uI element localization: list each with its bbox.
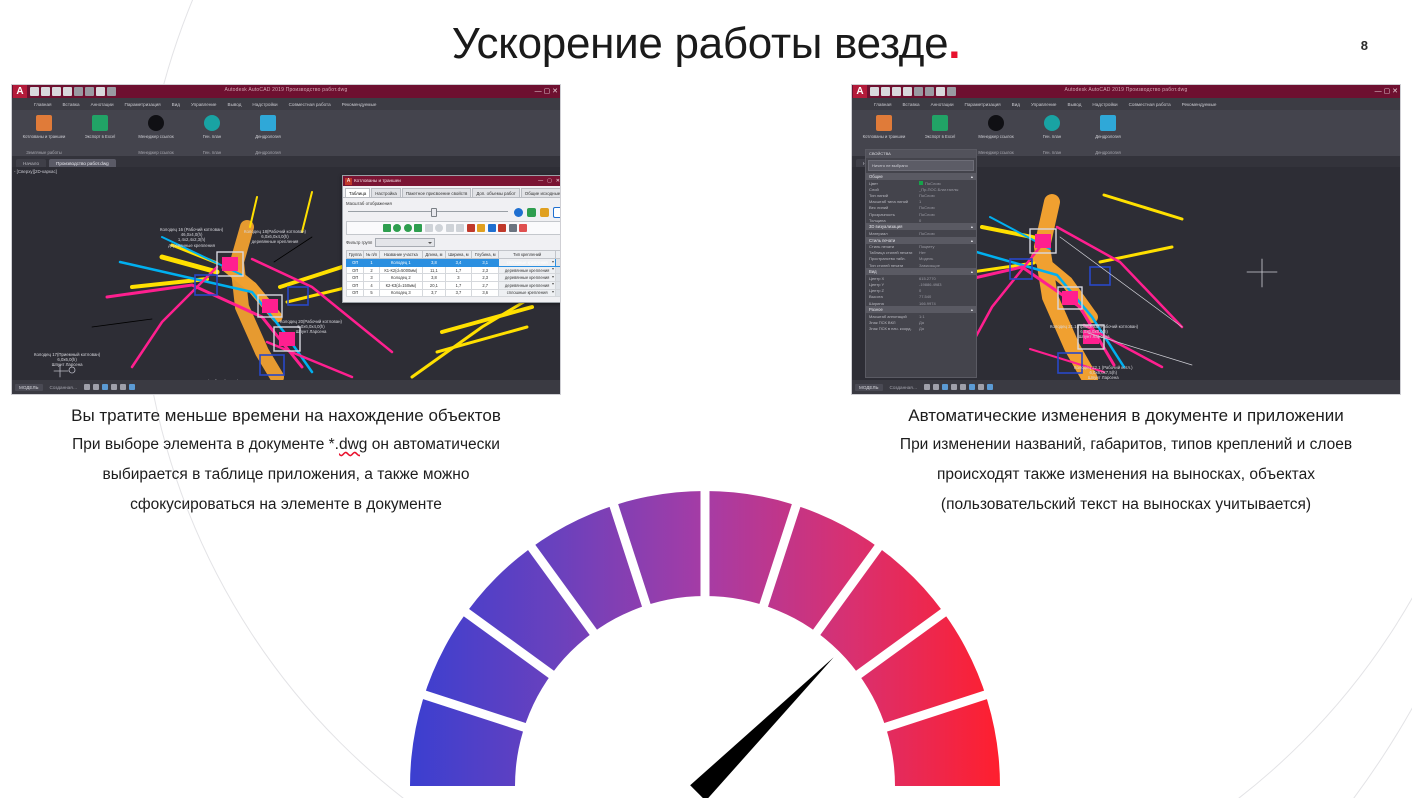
ribbon-panel-label: Земляные работы <box>18 150 70 155</box>
zoom-icon[interactable] <box>446 224 454 232</box>
status-toggle-icon[interactable] <box>93 384 99 390</box>
ribbon-tab[interactable]: Вставка <box>902 102 919 107</box>
prop-key: Толщина <box>869 218 919 223</box>
cell-dlina: 20,1 <box>423 281 446 289</box>
excel-export-icon <box>92 115 108 131</box>
cell-gruppa: ОП <box>347 266 364 274</box>
col-gruppa: Группа <box>347 251 364 259</box>
dialog-kotlovany-left[interactable]: A Котлованы и траншеи —▢✕ Таблица Настро… <box>342 175 560 303</box>
prop-value: 77.540 <box>919 294 931 299</box>
ribbon-button-label: Экспорт в Excel <box>85 134 116 139</box>
caption-right-line1: При изменении названий, габаритов, типов… <box>850 430 1402 460</box>
prop-key: Масштаб аннотаций <box>869 314 919 319</box>
genplan-icon <box>204 115 220 131</box>
cell-dlina: 3,7 <box>423 289 446 297</box>
prop-key: Материал <box>869 231 919 236</box>
ribbon-button-excel[interactable]: Экспорт в Excel <box>914 112 966 139</box>
status-toggle-icon[interactable] <box>111 384 117 390</box>
spellcheck-word: dwg <box>339 436 367 453</box>
prop-value: ПоСлою <box>919 181 941 186</box>
prop-key: Стиль печати <box>869 244 919 249</box>
dendrology-icon <box>1100 115 1116 131</box>
ribbon-tab[interactable]: Совместная работа <box>289 102 331 107</box>
prop-key: Центр X <box>869 276 919 281</box>
prop-value: ПоСлою <box>919 205 935 210</box>
cell-npp: 1 <box>364 259 379 267</box>
section-label: Разное <box>869 307 883 312</box>
cell-glubina: 3,1 <box>472 259 499 267</box>
caption-left-line1: При выборе элемента в документе *.dwg он… <box>10 430 562 460</box>
ribbon-button-label: Ген. план <box>203 134 221 139</box>
prop-key: Пространство табл. <box>869 256 919 261</box>
add-point-icon[interactable] <box>393 224 401 232</box>
drawing-annotation: Колодец 18(Рабочий котлован)6,0х6,0х4,0(… <box>244 229 306 245</box>
dialog-titlebar: A Котлованы и траншеи —▢✕ <box>343 176 560 186</box>
properties-palette[interactable]: СВОЙСТВА Ничего не выбрано Общие▴ ЦветПо… <box>865 149 977 378</box>
status-toggle-icon[interactable] <box>951 384 957 390</box>
prop-key: Прозрачность <box>869 212 919 217</box>
autocad-logo-icon: A <box>853 85 867 99</box>
collapse-icon[interactable]: ▴ <box>971 238 973 243</box>
ribbon-button-genplan[interactable]: Ген. план <box>186 112 238 139</box>
cell-nazvanie: Колодец 1 <box>379 259 423 267</box>
properties-section-raznoe[interactable]: Разное▴ <box>866 306 976 313</box>
ribbon-tab[interactable]: Рекомендуемые <box>1182 102 1217 107</box>
prop-key: Масштаб типа линий <box>869 199 919 204</box>
prop-key: Знак ПСК ВКЛ <box>869 320 919 325</box>
ribbon-tab[interactable]: Аннотации <box>931 102 954 107</box>
quick-access-toolbar-left[interactable] <box>30 86 116 97</box>
ribbon-tabs-right[interactable]: Главная Вставка Аннотации Параметризация… <box>852 98 1400 110</box>
link-manager-icon <box>148 115 164 131</box>
cell-glubina: 2,7 <box>472 281 499 289</box>
col-tip: Тип креплений <box>499 251 556 259</box>
properties-section-3d[interactable]: 3D визуализация▴ <box>866 223 976 230</box>
filter-label: Фильтр групп <box>346 240 372 245</box>
status-bar-left[interactable]: МОДЕЛЬ Созданная… <box>12 380 560 394</box>
status-toggle-icon[interactable] <box>84 384 90 390</box>
ribbon-button-kotlovany[interactable]: Котлованы и траншеи <box>18 112 70 139</box>
status-layout-tab[interactable]: Созданная… <box>886 384 922 391</box>
col-actions <box>556 251 561 259</box>
import-icon[interactable] <box>527 208 536 217</box>
prop-key: Центр Z <box>869 288 919 293</box>
cell-tip-dropdown[interactable]: деревянные крепления <box>499 281 556 289</box>
ribbon-button-label: Котлованы и траншеи <box>23 134 66 139</box>
window-buttons-right[interactable]: — ▢ ✕ <box>1375 87 1398 95</box>
section-label: Стиль печати <box>869 238 895 243</box>
ribbon-button-excel[interactable]: Экспорт в Excel <box>74 112 126 139</box>
document-tabs-left[interactable]: Начало Производство работ.dwg <box>12 156 560 167</box>
table-body-left: ОП 1 Колодец 1 3,8 3,4 3,1 сплошные креп… <box>347 259 561 297</box>
drawing-annotation: Колодец 17(Приемный котлован)6,0х6,0(h)Ш… <box>34 352 100 368</box>
dialog-tab-obshchie[interactable]: Общие исходные данные <box>521 188 560 197</box>
collapse-icon[interactable]: ▴ <box>971 224 973 229</box>
drawing-annotation-kolodec-211: Колодец 21.1(Приемный-Рабочий котлован)6… <box>1050 324 1138 340</box>
prop-key: Таблица стилей печати <box>869 250 919 255</box>
cell-npp: 4 <box>364 281 379 289</box>
title-accent-dot: . <box>948 19 960 68</box>
slide-title-wrap: Ускорение работы везде. <box>0 14 1412 74</box>
ribbon-tab[interactable]: Главная <box>874 102 891 107</box>
cell-tip-dropdown[interactable]: деревянные крепления <box>499 266 556 274</box>
cell-gruppa: ОП <box>347 289 364 297</box>
col-shirina: Ширина, м <box>445 251 471 259</box>
doc-tab-drawing[interactable]: Производство работ.dwg <box>49 159 116 167</box>
dendrology-icon <box>260 115 276 131</box>
collapse-icon[interactable]: ▴ <box>971 174 973 179</box>
prop-value: Модель <box>919 256 933 261</box>
cell-tip-dropdown[interactable]: сплошные крепления <box>499 289 556 297</box>
properties-title: СВОЙСТВА <box>866 150 976 158</box>
speed-gauge <box>405 476 1005 798</box>
page-title: Ускорение работы везде. <box>452 14 960 74</box>
prop-key: Знак ПСК в нач. коорд. <box>869 326 919 331</box>
table-blue-icon[interactable] <box>488 224 496 232</box>
cell-shirina: 1,7 <box>445 266 471 274</box>
dialog-toolbar-left[interactable] <box>346 221 560 235</box>
row-actions[interactable] <box>556 266 561 274</box>
prop-key: Ширина <box>869 301 919 306</box>
prop-key: Высота <box>869 294 919 299</box>
cell-nazvanie: Колодец 3 <box>379 289 423 297</box>
status-model-tab[interactable]: МОДЕЛЬ <box>15 384 43 391</box>
prop-value: ПоСлою <box>919 212 935 217</box>
genplan-icon <box>1044 115 1060 131</box>
row-actions[interactable] <box>556 274 561 282</box>
prop-key: Тип стилей печати <box>869 263 919 268</box>
slider-track <box>348 211 508 212</box>
cell-gruppa: ОП <box>347 259 364 267</box>
prop-value: Да <box>919 326 924 331</box>
ribbon-tab[interactable]: Вывод <box>1068 102 1082 107</box>
status-model-tab[interactable]: МОДЕЛЬ <box>855 384 883 391</box>
dialog-window-buttons[interactable]: —▢✕ <box>538 176 560 186</box>
cell-dlina: 3,8 <box>423 274 446 282</box>
color-swatch <box>919 181 923 185</box>
cell-dlina: 3,8 <box>423 259 446 267</box>
slide: Ускорение работы везде. 8 A Autodesk Aut… <box>0 0 1412 798</box>
cad-window-title-left: Autodesk AutoCAD 2019 Производство работ… <box>225 87 348 93</box>
prop-key: Слой <box>869 187 919 192</box>
cut-icon[interactable] <box>425 224 433 232</box>
ribbon-tab[interactable]: Вид <box>172 102 180 107</box>
cell-shirina: 1,7 <box>445 281 471 289</box>
ribbon-tab[interactable]: Параметризация <box>125 102 161 107</box>
dialog-title: Котлованы и траншеи <box>354 178 401 183</box>
ribbon-button-label: Экспорт в Excel <box>925 134 956 139</box>
status-toggle-icon[interactable] <box>987 384 993 390</box>
prop-value: ПоСлою <box>919 193 935 198</box>
drawing-annotation-kolodec-221: Колодец 22.1 (Рабочий котл.)6,0х6,0х7,5(… <box>1074 365 1133 380</box>
table-yellow-icon[interactable] <box>477 224 485 232</box>
table-row[interactable]: ОП 5 Колодец 3 3,7 3,7 3,6 сплошные креп… <box>347 289 561 297</box>
gauge-needle <box>690 657 834 798</box>
row-actions[interactable] <box>556 281 561 289</box>
table-row[interactable]: ОП 3 Колодец 2 3,8 3 2,3 деревянные креп… <box>347 274 561 282</box>
prop-value: 1:1 <box>919 314 925 319</box>
measure-icon[interactable] <box>456 224 464 232</box>
ribbon-panel-label: Дендрология <box>242 150 294 155</box>
open-external-icon[interactable] <box>553 207 560 218</box>
ribbon-button-label: Дендрология <box>255 134 280 139</box>
filter-row-left[interactable]: Фильтр групп <box>346 238 560 247</box>
status-toggle-icon[interactable] <box>129 384 135 390</box>
dialog-app-icon: A <box>345 178 352 185</box>
ribbon-tab[interactable]: Совместная работа <box>1129 102 1171 107</box>
cell-dlina: 11,1 <box>423 266 446 274</box>
ribbon-tab[interactable]: Главная <box>34 102 51 107</box>
prop-value: Нет <box>919 250 926 255</box>
export-icon[interactable] <box>540 208 549 217</box>
slider-thumb[interactable] <box>431 208 437 217</box>
row-actions[interactable] <box>556 259 561 267</box>
excel-export-icon <box>932 115 948 131</box>
dialog-tab-tablitsa[interactable]: Таблица <box>345 188 370 197</box>
table-row[interactable]: ОП 2 К1-К2(d=5000мм) 11,1 1,7 2,3 деревя… <box>347 266 561 274</box>
ribbon-button-kotlovany[interactable]: Котлованы и траншеи <box>858 112 910 139</box>
dialog-tab-dopobemy[interactable]: Доп. объемы работ <box>472 188 519 197</box>
dialog-tab-nastroyka[interactable]: Настройка <box>371 188 401 197</box>
prop-value: Да <box>919 320 924 325</box>
polyline-icon[interactable] <box>414 224 422 232</box>
ribbon-tab[interactable]: Вставка <box>62 102 79 107</box>
section-label: 3D визуализация <box>869 224 902 229</box>
ribbon-tabs-left[interactable]: Главная Вставка Аннотации Параметризация… <box>12 98 560 110</box>
status-toggle-icon[interactable] <box>102 384 108 390</box>
page-number: 8 <box>1361 38 1368 53</box>
properties-selection-dropdown[interactable]: Ничего не выбрано <box>868 160 974 171</box>
ribbon-tab[interactable]: Вид <box>1012 102 1020 107</box>
ribbon-tab[interactable]: Вывод <box>228 102 242 107</box>
screenshot-right: A Autodesk AutoCAD 2019 Производство раб… <box>852 85 1400 394</box>
cell-nazvanie: К2-К3(d=150мм) <box>379 281 423 289</box>
ribbon-button-label: Котлованы и траншеи <box>863 134 906 139</box>
cell-glubina: 2,3 <box>472 274 499 282</box>
cad-titlebar-left: A Autodesk AutoCAD 2019 Производство раб… <box>12 85 560 98</box>
doc-tab-start[interactable]: Начало <box>16 159 46 167</box>
status-bar-right[interactable]: МОДЕЛЬ Созданная… <box>852 380 1400 394</box>
kotlovany-icon <box>36 115 52 131</box>
status-toggle-icon[interactable] <box>120 384 126 390</box>
ribbon-button-label: Ген. план <box>1043 134 1061 139</box>
prop-value: Поцвету <box>919 244 934 249</box>
add-area-icon[interactable] <box>383 224 391 232</box>
section-label: Общие <box>869 174 883 179</box>
prop-value: ПоСлою <box>919 231 935 236</box>
circle-icon[interactable] <box>435 224 443 232</box>
properties-row: Знак ПСК в нач. коорд.Да <box>866 326 976 332</box>
link-manager-icon <box>988 115 1004 131</box>
prop-key: Вес линий <box>869 205 919 210</box>
ribbon-tab[interactable]: Рекомендуемые <box>342 102 377 107</box>
cell-glubina: 2,3 <box>472 266 499 274</box>
table-red2-icon[interactable] <box>498 224 506 232</box>
cell-gruppa: ОП <box>347 274 364 282</box>
status-toggle-icon[interactable] <box>960 384 966 390</box>
collapse-icon[interactable]: ▴ <box>971 307 973 312</box>
save-icon[interactable] <box>509 224 517 232</box>
scale-slider[interactable] <box>348 208 508 215</box>
table-left[interactable]: Группа № п/п Название участка Длина, м Ш… <box>346 250 560 297</box>
col-glubina: Глубина, м <box>472 251 499 259</box>
caption-right-heading: Автоматические изменения в документе и п… <box>850 404 1402 428</box>
cell-shirina: 3 <box>445 274 471 282</box>
ribbon-button-label: Менеджер ссылок <box>978 134 1013 139</box>
section-label: Вид <box>869 269 877 274</box>
cell-nazvanie: К1-К2(d=5000мм) <box>379 266 423 274</box>
quick-access-toolbar-right[interactable] <box>870 86 956 97</box>
row-actions[interactable] <box>556 289 561 297</box>
prop-value: -19886.4983 <box>919 282 941 287</box>
ribbon-button-label: Менеджер ссылок <box>138 134 173 139</box>
ribbon-panel-label: Менеджер ссылок <box>970 150 1022 155</box>
add-node-icon[interactable] <box>404 224 412 232</box>
col-npp: № п/п <box>364 251 379 259</box>
table-red-icon[interactable] <box>467 224 475 232</box>
window-buttons-left[interactable]: — ▢ ✕ <box>535 87 558 95</box>
status-toggle-icon[interactable] <box>969 384 975 390</box>
dialog-tabs-left[interactable]: Таблица Настройка Пакетное присвоение св… <box>343 186 560 197</box>
autocad-logo-icon: A <box>13 85 27 99</box>
col-dlina: Длина, м <box>423 251 446 259</box>
prop-value: _Пр-ПОС.Благ.таллы <box>919 187 958 192</box>
ribbon-button-genplan[interactable]: Ген. план <box>1026 112 1078 139</box>
prop-key: Тип линий <box>869 193 919 198</box>
col-nazvanie: Название участка <box>379 251 423 259</box>
prop-value: 1 <box>919 199 921 204</box>
ribbon-tab[interactable]: Надстройки <box>1092 102 1117 107</box>
ribbon-tab[interactable]: Аннотации <box>91 102 114 107</box>
status-toggle-icon[interactable] <box>933 384 939 390</box>
prop-key: Центр Y <box>869 282 919 287</box>
ribbon-tab[interactable]: Управление <box>191 102 217 107</box>
prop-value: 0 <box>919 288 921 293</box>
cad-window-title-right: Autodesk AutoCAD 2019 Производство работ… <box>1065 87 1188 93</box>
kotlovany-icon <box>876 115 892 131</box>
cell-glubina: 3,6 <box>472 289 499 297</box>
ribbon-panel-label: Менеджер ссылок <box>130 150 182 155</box>
cell-nazvanie: Колодец 2 <box>379 274 423 282</box>
cell-tip-dropdown[interactable]: деревянные крепления <box>499 274 556 282</box>
ribbon-button-dendro[interactable]: Дендрология <box>242 112 294 139</box>
ribbon-button-dendro[interactable]: Дендрология <box>1082 112 1134 139</box>
ribbon-tab[interactable]: Управление <box>1031 102 1057 107</box>
properties-section-stil[interactable]: Стиль печати▴ <box>866 237 976 244</box>
cell-shirina: 3,7 <box>445 289 471 297</box>
properties-section-obshchie[interactable]: Общие▴ <box>866 173 976 180</box>
table-header-row: Группа № п/п Название участка Длина, м Ш… <box>347 251 561 259</box>
properties-section-vid[interactable]: Вид▴ <box>866 268 976 275</box>
status-toggle-icon[interactable] <box>978 384 984 390</box>
ribbon-panel-label: Ген. план <box>1026 150 1078 155</box>
caption-left-heading: Вы тратите меньше времени на нахождение … <box>10 404 562 428</box>
table-row[interactable]: ОП 4 К2-К3(d=150мм) 20,1 1,7 2,7 деревян… <box>347 281 561 289</box>
gauge-arc <box>410 491 1000 786</box>
status-toggle-icon[interactable] <box>942 384 948 390</box>
prop-value: 166.9974 <box>919 301 936 306</box>
cad-titlebar-right: A Autodesk AutoCAD 2019 Производство раб… <box>852 85 1400 98</box>
filter-select[interactable] <box>375 238 435 247</box>
screenshot-left: A Autodesk AutoCAD 2019 Производство раб… <box>12 85 560 394</box>
drawing-annotation: Колодец 20(Рабочий котлован)6,0х6,0х4,0(… <box>280 319 342 335</box>
cell-tip-dropdown[interactable]: сплошные крепления <box>499 259 556 267</box>
cell-npp: 3 <box>364 274 379 282</box>
collapse-icon[interactable]: ▴ <box>971 269 973 274</box>
table-row[interactable]: ОП 1 Колодец 1 3,8 3,4 3,1 сплошные креп… <box>347 259 561 267</box>
prop-value: 615.2770 <box>919 276 936 281</box>
dialog-body-left: Масштаб отображения <box>343 197 560 300</box>
ribbon-button-links[interactable]: Менеджер ссылок <box>970 112 1022 139</box>
drawing-annotation: Колодец 16 (Рабочий котлован)46,0х4,0(h)… <box>160 227 223 248</box>
status-toggle-icon[interactable] <box>924 384 930 390</box>
info-icon[interactable] <box>514 208 523 217</box>
page-title-text: Ускорение работы везде <box>452 19 949 68</box>
cell-npp: 2 <box>364 266 379 274</box>
delete-icon[interactable] <box>519 224 527 232</box>
prop-value: 0 <box>919 218 921 223</box>
ribbon-button-label: Дендрология <box>1095 134 1120 139</box>
prop-key: Цвет <box>869 181 919 186</box>
ribbon-panel-label: Дендрология <box>1082 150 1134 155</box>
prop-value: Зависящие <box>919 263 940 268</box>
dialog-tab-paketnoe[interactable]: Пакетное присвоение свойств <box>402 188 472 197</box>
cell-shirina: 3,4 <box>445 259 471 267</box>
ribbon-panel-label: Ген. план <box>186 150 238 155</box>
ribbon-button-links[interactable]: Менеджер ссылок <box>130 112 182 139</box>
ribbon-tab[interactable]: Надстройки <box>252 102 277 107</box>
status-layout-tab[interactable]: Созданная… <box>46 384 82 391</box>
ribbon-left: Котлованы и траншеи Экспорт в Excel Мене… <box>12 110 560 156</box>
cell-npp: 5 <box>364 289 379 297</box>
ribbon-tab[interactable]: Параметризация <box>965 102 1001 107</box>
cell-gruppa: ОП <box>347 281 364 289</box>
